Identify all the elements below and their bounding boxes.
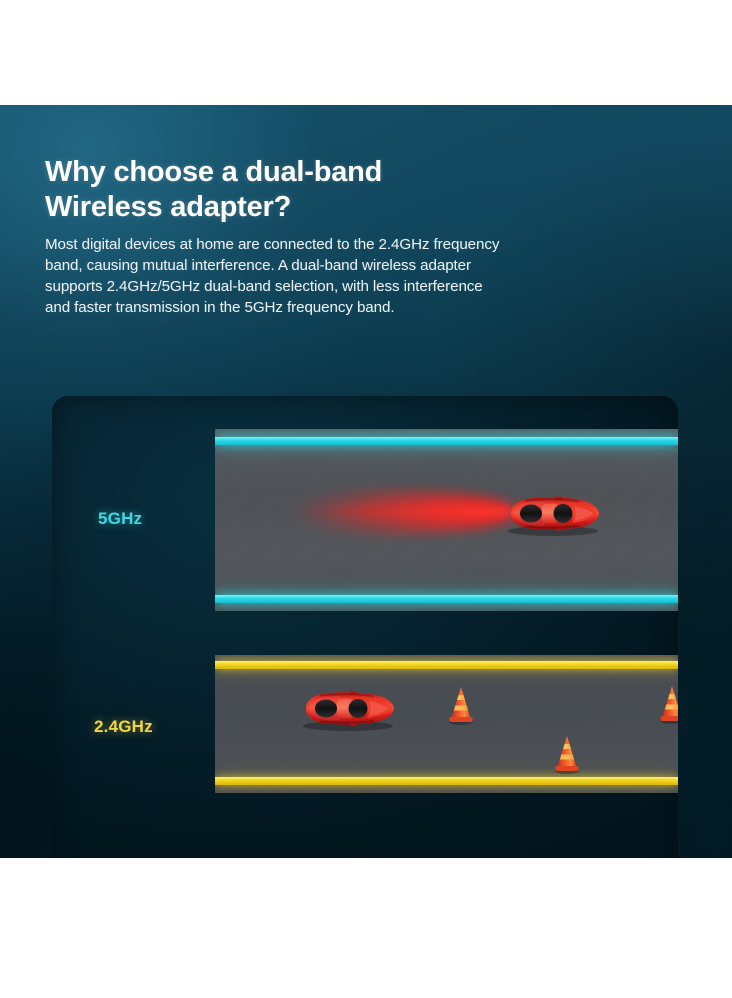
headline-line-1: Why choose a dual-band [45,156,382,188]
lane-line-cyan-bottom [215,595,678,603]
traffic-cone-icon [552,734,582,776]
body-line-4: and faster transmission in the 5GHz freq… [45,297,660,318]
road-lane-2-4ghz [215,655,678,793]
comparison-illustration-card: 5GHz 2.4GHz [52,396,678,858]
red-car-icon [505,491,601,536]
body-line-2: band, causing mutual interference. A dua… [45,255,660,276]
hero-banner: Why choose a dual-band Wireless adapter?… [0,105,732,858]
body-line-1: Most digital devices at home are connect… [45,234,660,255]
lane-line-yellow-top [215,661,678,669]
traffic-cone-icon [446,685,476,727]
body-line-3: supports 2.4GHz/5GHz dual-band selection… [45,276,660,297]
product-infographic-page: Why choose a dual-band Wireless adapter?… [0,0,732,998]
band-label-5ghz: 5GHz [98,509,142,529]
road-lane-5ghz [215,429,678,611]
lane-line-yellow-bottom [215,777,678,785]
band-label-2-4ghz: 2.4GHz [94,717,153,737]
lane-line-cyan-top [215,437,678,445]
page-title: Why choose a dual-band Wireless adapter? [45,155,660,225]
body-paragraph: Most digital devices at home are connect… [45,234,660,318]
traffic-cone-icon [657,684,678,726]
red-car-icon [300,686,396,731]
motion-blur-trail-core [307,503,515,520]
copy-block: Why choose a dual-band Wireless adapter?… [45,155,660,318]
headline-line-2: Wireless adapter? [45,190,660,225]
